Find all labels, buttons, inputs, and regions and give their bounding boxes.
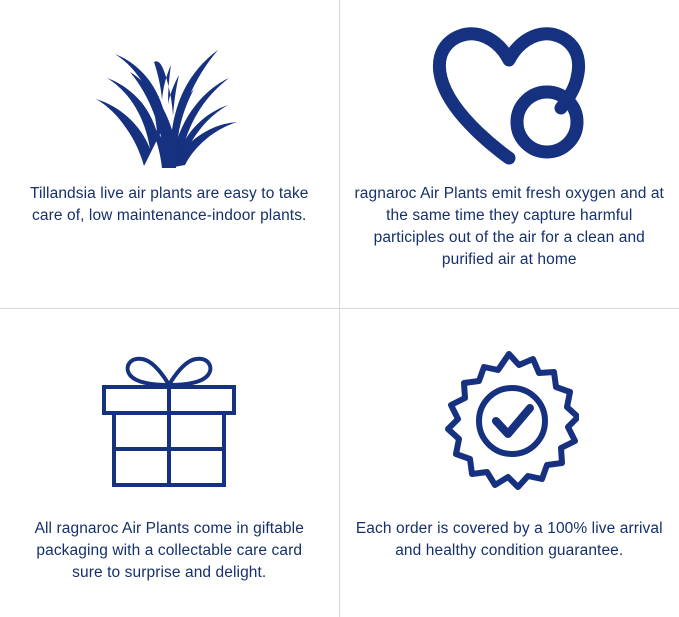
guarantee-badge-check-icon	[346, 309, 674, 518]
heart-plus-icon	[346, 0, 674, 183]
feature-panel-air-purifying: ragnaroc Air Plants emit fresh oxygen an…	[340, 0, 679, 309]
air-plant-icon	[6, 0, 333, 183]
gift-box-icon	[6, 309, 333, 518]
feature-caption: Each order is covered by a 100% live arr…	[353, 518, 665, 562]
feature-caption: All ragnaroc Air Plants come in giftable…	[19, 518, 319, 584]
feature-caption: ragnaroc Air Plants emit fresh oxygen an…	[350, 183, 668, 271]
feature-caption: Tillandsia live air plants are easy to t…	[13, 183, 325, 227]
feature-panel-gift-packaging: All ragnaroc Air Plants come in giftable…	[0, 309, 340, 617]
feature-panel-guarantee: Each order is covered by a 100% live arr…	[340, 309, 679, 617]
feature-grid: Tillandsia live air plants are easy to t…	[0, 0, 679, 617]
feature-panel-air-plant: Tillandsia live air plants are easy to t…	[0, 0, 340, 309]
